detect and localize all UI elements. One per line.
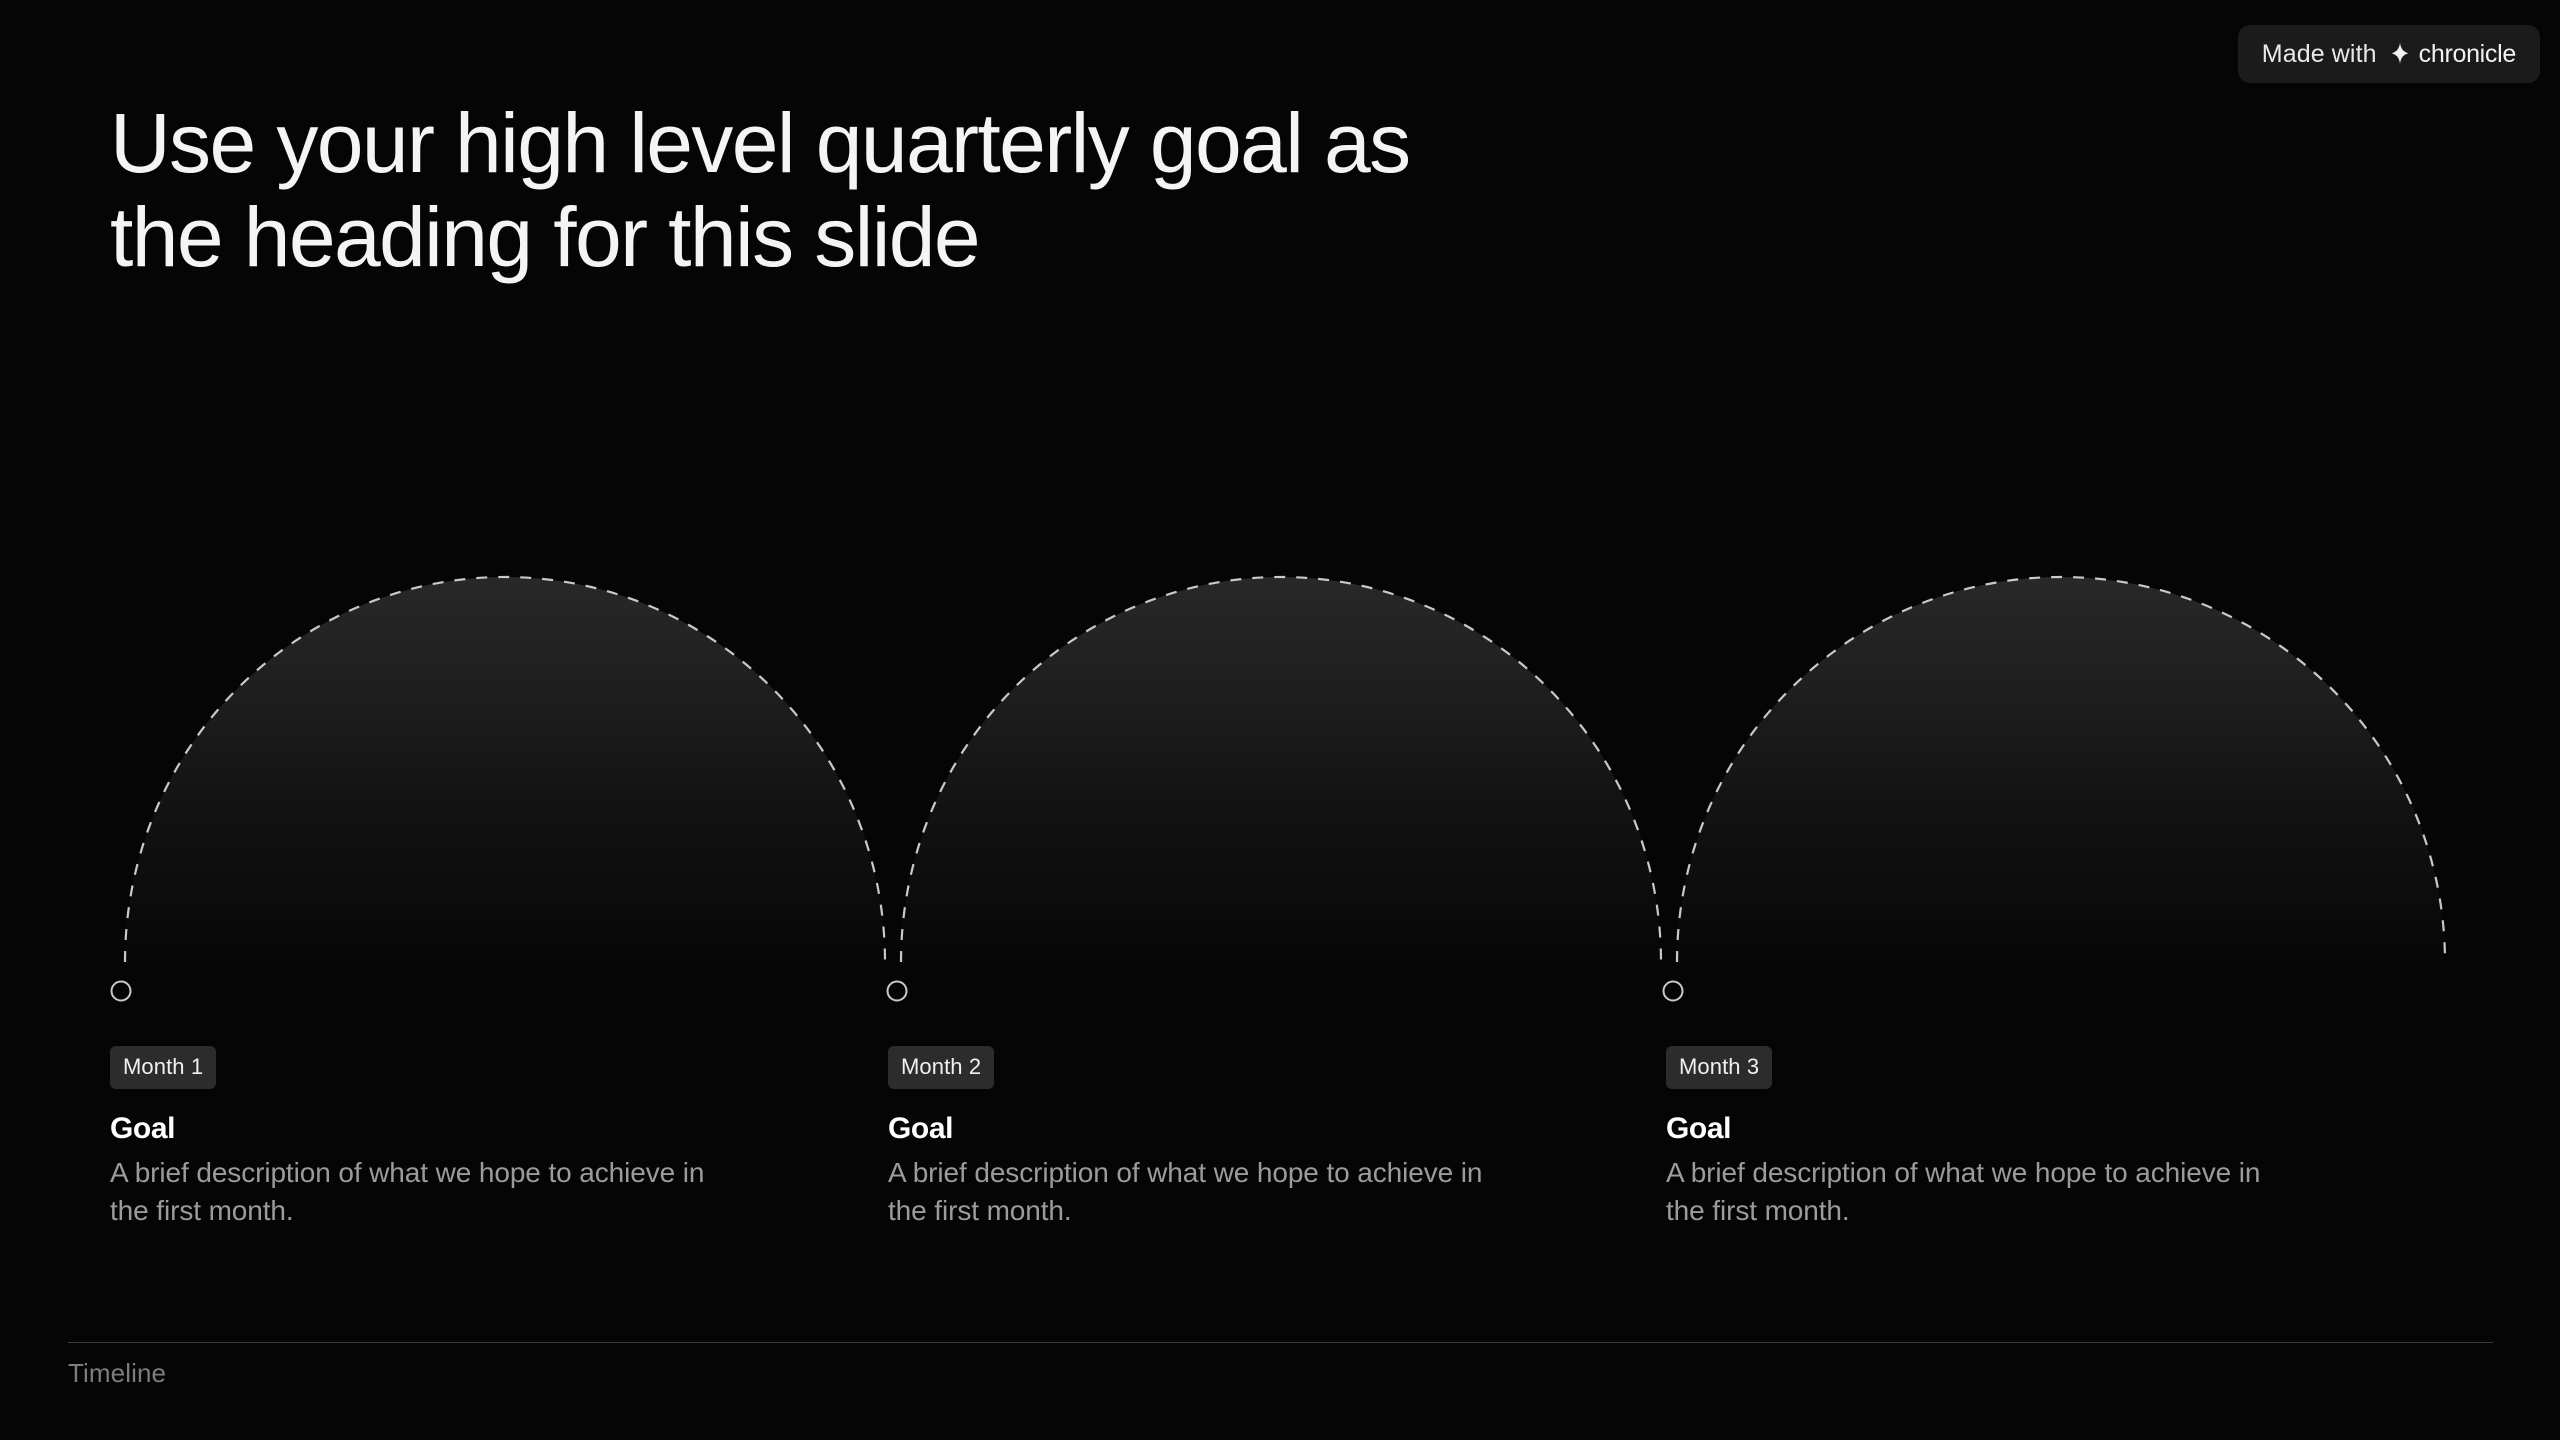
chronicle-wordmark: chronicle — [2419, 40, 2516, 69]
milestone-marker-month-1[interactable] — [112, 982, 131, 1001]
timeline-column-month-1: Month 1 Goal A brief description of what… — [110, 1046, 810, 1231]
arc-fill-month-1 — [125, 577, 885, 962]
slide-heading: Use your high level quarterly goal as th… — [110, 96, 1860, 284]
timeline-columns: Month 1 Goal A brief description of what… — [110, 1046, 2510, 1266]
timeline-column-month-3: Month 3 Goal A brief description of what… — [1666, 1046, 2366, 1231]
goal-title-3: Goal — [1666, 1111, 2366, 1147]
arc-group-month-3 — [1677, 577, 2445, 962]
milestone-marker-month-2[interactable] — [888, 982, 907, 1001]
goal-description-2: A brief description of what we hope to a… — [888, 1154, 1488, 1231]
arc-fill-month-2 — [901, 577, 1661, 962]
arc-group-month-1 — [125, 577, 885, 962]
sparkle-icon — [2387, 41, 2413, 67]
arc-group-month-2 — [901, 577, 1661, 962]
slide-heading-line-1: Use your high level quarterly goal as — [110, 96, 1860, 190]
made-with-label: Made with — [2262, 40, 2377, 69]
footer-divider — [68, 1342, 2493, 1343]
slide-canvas: Made with chronicle Use your high level … — [0, 0, 2560, 1440]
month-badge-3[interactable]: Month 3 — [1666, 1046, 1772, 1089]
made-with-chronicle-badge[interactable]: Made with chronicle — [2238, 25, 2540, 83]
arc-svg — [0, 560, 2560, 1020]
slide-heading-line-2: the heading for this slide — [110, 190, 1860, 284]
goal-title-2: Goal — [888, 1111, 1588, 1147]
month-badge-1[interactable]: Month 1 — [110, 1046, 216, 1089]
footer-label-timeline: Timeline — [68, 1358, 166, 1389]
arc-fill-month-3 — [1677, 577, 2445, 962]
goal-title-1: Goal — [110, 1111, 810, 1147]
timeline-arc-graphic — [0, 560, 2560, 1020]
month-badge-2[interactable]: Month 2 — [888, 1046, 994, 1089]
goal-description-1: A brief description of what we hope to a… — [110, 1154, 710, 1231]
chronicle-brand: chronicle — [2387, 40, 2516, 69]
goal-description-3: A brief description of what we hope to a… — [1666, 1154, 2266, 1231]
timeline-column-month-2: Month 2 Goal A brief description of what… — [888, 1046, 1588, 1231]
milestone-marker-month-3[interactable] — [1664, 982, 1683, 1001]
